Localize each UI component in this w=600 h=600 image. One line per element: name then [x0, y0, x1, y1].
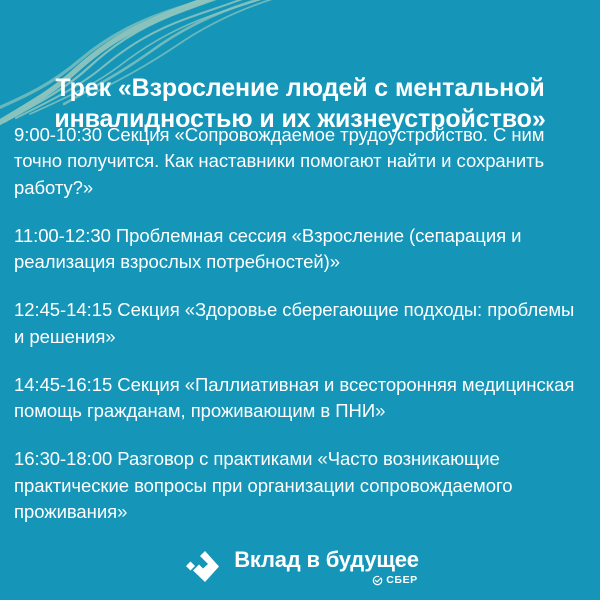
schedule-entry: 12:45-14:15 Секция «Здоровье сберегающие…: [14, 297, 586, 350]
diamond-logo-icon: [181, 549, 221, 585]
logo-lockup: Вклад в будущее СБЕР: [181, 548, 419, 586]
schedule-entry: 16:30-18:00 Разговор с практиками «Часто…: [14, 446, 586, 525]
logo-text-block: Вклад в будущее СБЕР: [234, 548, 419, 586]
logo-wordmark: Вклад в будущее: [234, 548, 419, 572]
poster-canvas: Трек «Взросление людей с ментальной инва…: [0, 0, 600, 600]
schedule-entry: 14:45-16:15 Секция «Паллиативная и всест…: [14, 372, 586, 425]
footer: Вклад в будущее СБЕР: [0, 548, 600, 586]
sber-circle-icon: [372, 575, 383, 586]
schedule-entry: 11:00-12:30 Проблемная сессия «Взрослени…: [14, 223, 586, 276]
logo-sub-text: СБЕР: [386, 575, 418, 586]
logo-sub-lockup: СБЕР: [372, 575, 418, 586]
schedule-entry: 9:00-10:30 Секция «Сопровождаемое трудоу…: [14, 122, 586, 201]
schedule-list: 9:00-10:30 Секция «Сопровождаемое трудоу…: [14, 122, 586, 525]
